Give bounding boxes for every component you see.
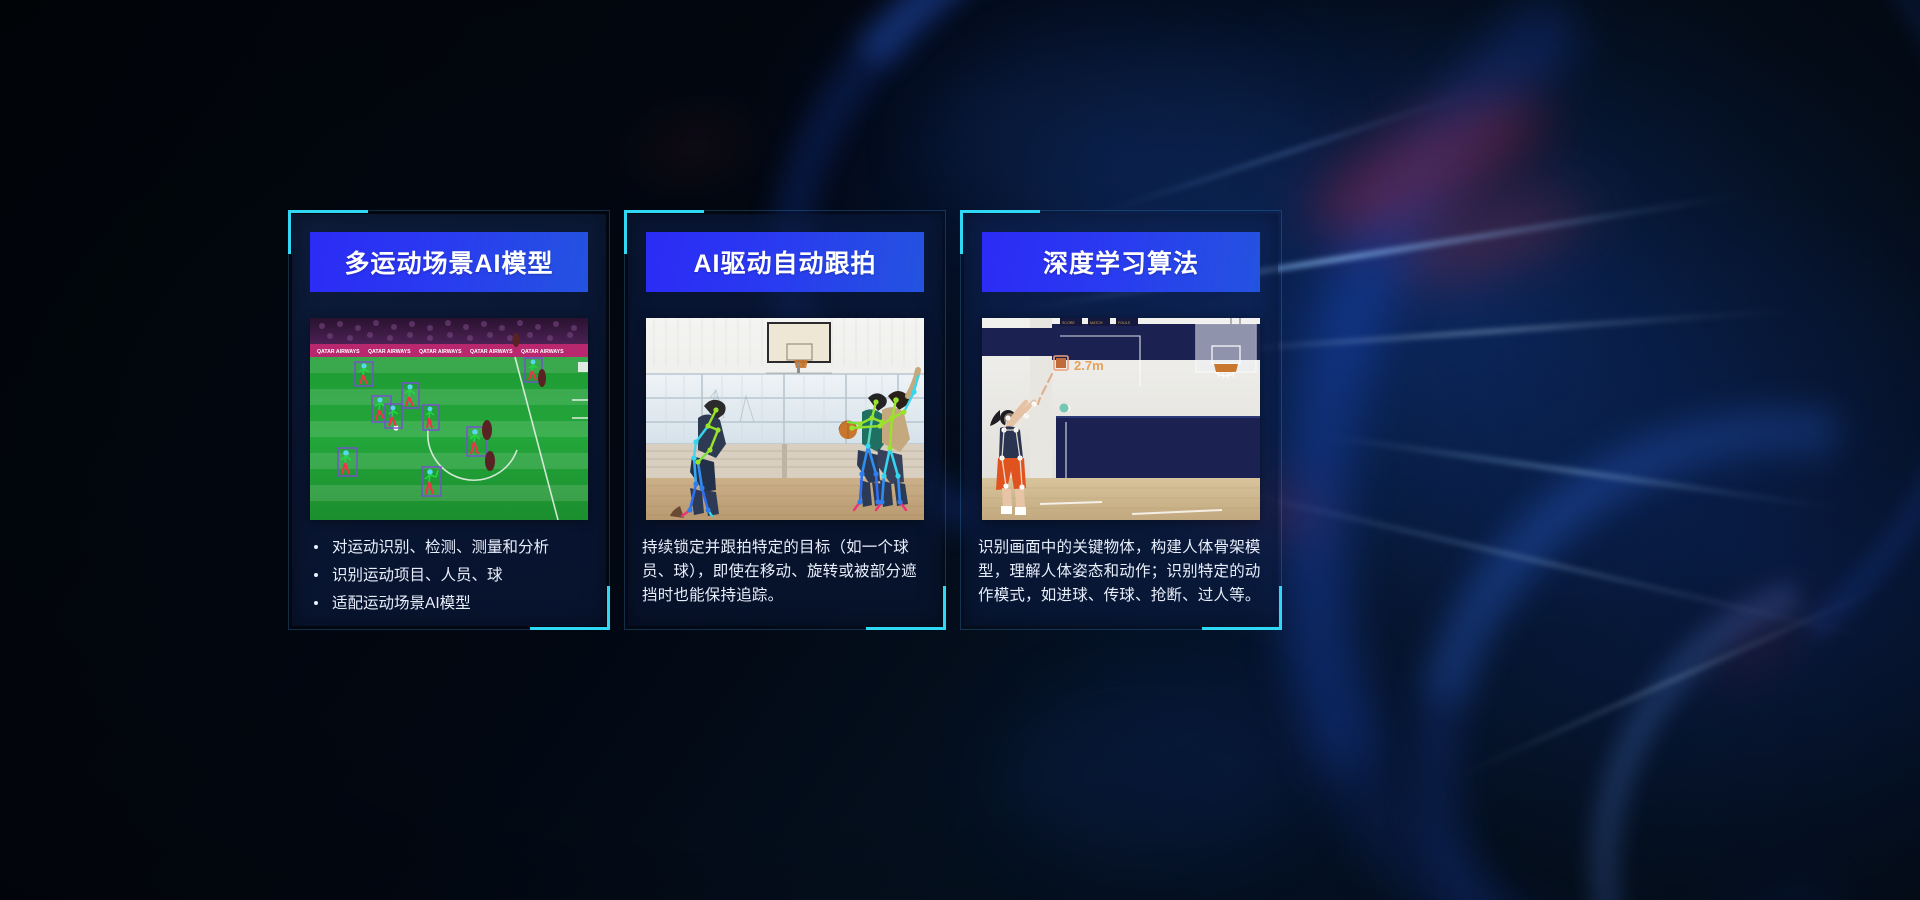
card-body: 识别画面中的关键物体，构建人体骨架模型，理解人体姿态和动作；识别特定的动作模式，…	[978, 536, 1266, 608]
feature-bullet-list: 对运动识别、检测、测量和分析 识别运动项目、人员、球 适配运动场景AI模型	[310, 536, 592, 616]
feature-card-multi-sport-model[interactable]: 多运动场景AI模型	[292, 214, 606, 626]
list-item-label: 适配运动场景AI模型	[332, 595, 471, 612]
list-item-label: 识别运动项目、人员、球	[332, 567, 503, 584]
card-title: 多运动场景AI模型	[310, 232, 588, 292]
svg-text:QATAR AIRWAYS: QATAR AIRWAYS	[419, 349, 462, 355]
svg-text:QATAR AIRWAYS: QATAR AIRWAYS	[470, 349, 513, 355]
svg-text:QATAR AIRWAYS: QATAR AIRWAYS	[368, 349, 411, 355]
list-item: 适配运动场景AI模型	[310, 592, 592, 616]
card-title: 深度学习算法	[982, 232, 1260, 292]
soccer-field-detection-thumbnail[interactable]: QATAR AIRWAYS QATAR AIRWAYS QATAR AIRWAY…	[310, 318, 588, 520]
feature-card-ai-auto-tracking[interactable]: AI驱动自动跟拍	[628, 214, 942, 626]
svg-text:QATAR AIRWAYS: QATAR AIRWAYS	[317, 349, 360, 355]
list-item-label: 对运动识别、检测、测量和分析	[332, 539, 549, 556]
list-item: 对运动识别、检测、测量和分析	[310, 536, 592, 560]
basketball-gym-pose-thumbnail[interactable]	[646, 318, 924, 520]
feature-card-row: 多运动场景AI模型	[292, 214, 1278, 626]
svg-text:MATCH: MATCH	[1090, 321, 1103, 325]
distance-annotation-label: 2.7m	[1074, 358, 1104, 373]
bullet-dot-icon	[314, 573, 318, 577]
list-item: 识别运动项目、人员、球	[310, 564, 592, 588]
bullet-dot-icon	[314, 545, 318, 549]
svg-text:QATAR AIRWAYS: QATAR AIRWAYS	[521, 349, 564, 355]
bullet-dot-icon	[314, 601, 318, 605]
card-body: 对运动识别、检测、测量和分析 识别运动项目、人员、球 适配运动场景AI模型	[310, 536, 592, 620]
svg-text:FOULS: FOULS	[1118, 321, 1131, 325]
svg-text:SCORE: SCORE	[1062, 321, 1075, 325]
card-body: 持续锁定并跟拍特定的目标（如一个球员、球），即使在移动、旋转或被部分遮挡时也能保…	[642, 536, 930, 608]
card-title: AI驱动自动跟拍	[646, 232, 924, 292]
basketball-shot-tracking-thumbnail[interactable]: SCOREMATCHFOULS	[982, 318, 1260, 520]
feature-card-deep-learning-algorithm[interactable]: 深度学习算法	[964, 214, 1278, 626]
